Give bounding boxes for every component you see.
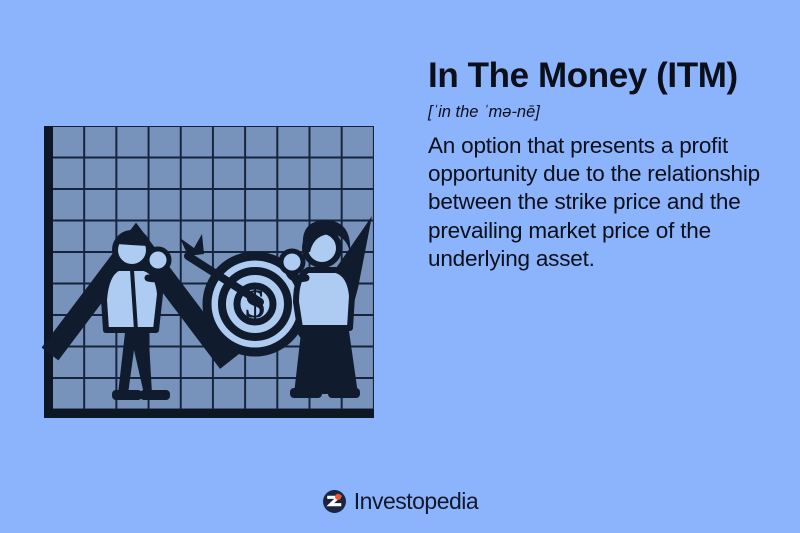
brand-footer: Investopedia — [0, 488, 800, 515]
page-title: In The Money (ITM) — [428, 56, 778, 97]
investopedia-logo-icon — [322, 489, 347, 514]
illustration-chart-graphic: $ — [36, 118, 384, 426]
definition-text: An option that presents a profit opportu… — [428, 132, 778, 274]
definition-panel: In The Money (ITM) [ˈin the ˈmə-nē] An o… — [428, 56, 778, 273]
illustration-vector-layer: $ — [36, 118, 384, 426]
businessman-figure — [104, 232, 170, 400]
infographic-page: $ — [0, 0, 800, 533]
brand-wordmark: Investopedia — [354, 488, 478, 515]
pronunciation-text: [ˈin the ˈmə-nē] — [428, 103, 778, 122]
